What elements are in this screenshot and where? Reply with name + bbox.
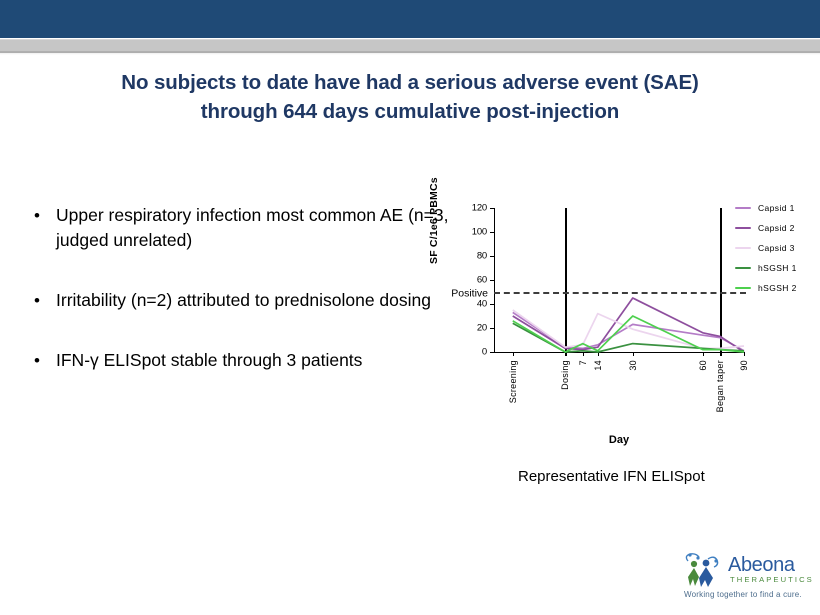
chart-y-tick-label: 40 xyxy=(477,299,487,310)
legend-color-swatch xyxy=(735,227,751,230)
chart-x-axis xyxy=(494,352,744,353)
chart-plot-area: 020406080100120 ScreeningDosing7143060Be… xyxy=(494,208,744,352)
legend-color-swatch xyxy=(735,247,751,250)
bullet-list: • Upper respiratory infection most commo… xyxy=(30,203,450,408)
abeona-logo-icon xyxy=(682,552,728,588)
legend-item: Capsid 2 xyxy=(735,218,820,238)
page-title: No subjects to date have had a serious a… xyxy=(45,68,775,126)
chart-x-tick xyxy=(720,352,721,356)
chart-y-tick-label: 20 xyxy=(477,323,487,334)
chart-legend: Capsid 1Capsid 2Capsid 3hSGSH 1hSGSH 2 xyxy=(735,198,820,298)
legend-color-swatch xyxy=(735,207,751,210)
legend-item: Capsid 1 xyxy=(735,198,820,218)
chart-x-tick-label: Screening xyxy=(508,360,518,403)
chart-series-group xyxy=(494,208,744,352)
chart-y-tick-label: 60 xyxy=(477,275,487,286)
legend-label: hSGSH 2 xyxy=(758,283,797,293)
logo-subtitle: THERAPEUTICS xyxy=(730,575,814,584)
chart-x-tick-label: Dosing xyxy=(560,360,570,390)
list-item: • Upper respiratory infection most commo… xyxy=(30,203,450,253)
chart-x-tick-label: 60 xyxy=(698,360,708,371)
bullet-text: Irritability (n=2) attributed to prednis… xyxy=(56,288,450,313)
header-band xyxy=(0,0,820,38)
chart-x-tick xyxy=(583,352,584,356)
chart-y-tick-label: 0 xyxy=(482,347,487,358)
chart-y-axis-label: SF C/1e6 PBMCs xyxy=(428,177,440,264)
chart-y-tick-label: 100 xyxy=(472,227,487,238)
chart-threshold-label: Positive xyxy=(451,287,488,299)
legend-label: Capsid 3 xyxy=(758,243,795,253)
legend-color-swatch xyxy=(735,287,751,290)
chart-x-tick-label: 14 xyxy=(593,360,603,371)
bullet-marker-icon: • xyxy=(30,288,56,313)
legend-color-swatch xyxy=(735,267,751,270)
chart-x-tick-label: 30 xyxy=(628,360,638,371)
logo-tagline: Working together to find a cure. xyxy=(684,590,802,599)
chart-x-tick-label: 90 xyxy=(739,360,749,371)
page-title-line-1: No subjects to date have had a serious a… xyxy=(45,68,775,97)
bullet-marker-icon: • xyxy=(30,203,56,228)
bullet-text: IFN-γ ELISpot stable through 3 patients xyxy=(56,348,450,373)
chart-caption: Representative IFN ELISpot xyxy=(518,468,705,485)
legend-item: hSGSH 2 xyxy=(735,278,820,298)
list-item: • IFN-γ ELISpot stable through 3 patient… xyxy=(30,348,450,373)
chart-x-tick xyxy=(744,352,745,356)
legend-label: hSGSH 1 xyxy=(758,263,797,273)
chart-y-tick-label: 80 xyxy=(477,251,487,262)
bullet-marker-icon: • xyxy=(30,348,56,373)
page-title-line-2: through 644 days cumulative post-injecti… xyxy=(45,97,775,126)
legend-item: hSGSH 1 xyxy=(735,258,820,278)
legend-item: Capsid 3 xyxy=(735,238,820,258)
list-item: • Irritability (n=2) attributed to predn… xyxy=(30,288,450,313)
chart-y-tick xyxy=(490,352,494,353)
chart-x-tick xyxy=(513,352,514,356)
company-logo: Abeona THERAPEUTICS Working together to … xyxy=(680,548,810,604)
elispot-chart: SF C/1e6 PBMCs 020406080100120 Screening… xyxy=(432,196,820,458)
chart-y-tick-label: 120 xyxy=(472,203,487,214)
bullet-text: Upper respiratory infection most common … xyxy=(56,203,450,253)
chart-x-axis-label: Day xyxy=(494,434,744,446)
legend-label: Capsid 1 xyxy=(758,203,795,213)
header-band-shadow xyxy=(0,51,820,55)
chart-x-tick xyxy=(703,352,704,356)
legend-label: Capsid 2 xyxy=(758,223,795,233)
logo-name: Abeona xyxy=(728,554,795,577)
chart-x-tick xyxy=(633,352,634,356)
chart-x-tick-label: Began taper xyxy=(715,360,725,412)
chart-x-tick-label: 7 xyxy=(578,360,588,365)
